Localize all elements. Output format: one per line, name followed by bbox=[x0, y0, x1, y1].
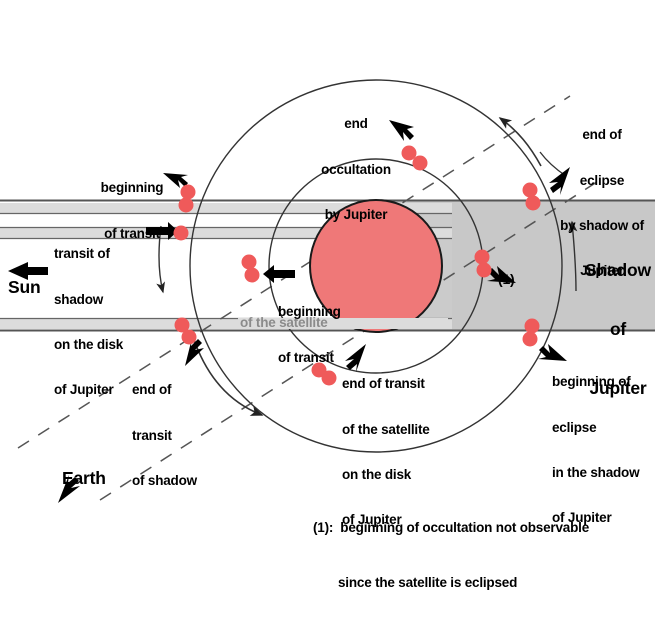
text-line: beginning bbox=[76, 180, 188, 195]
text-line: in the shadow bbox=[552, 465, 655, 480]
text-line: end of transit bbox=[342, 376, 464, 391]
text-line: beginning of bbox=[552, 374, 655, 389]
satellite-dot-end-of-eclipse-by-shadow-b bbox=[526, 196, 541, 211]
text-line: of shadow bbox=[132, 473, 238, 488]
text-line: end of bbox=[552, 127, 652, 142]
label-occluded-text: of the satellite bbox=[240, 315, 450, 330]
satellite-dot-beginning-of-transit-mid-b bbox=[245, 268, 260, 283]
label-note-marker: (1) bbox=[498, 272, 515, 288]
satellite-dot-beginning-of-eclipse-b bbox=[523, 332, 538, 347]
footnote-line-2: since the satellite is eclipsed bbox=[313, 574, 653, 592]
satellite-dot-note-1-occultation-b bbox=[477, 263, 492, 278]
label-earth: Earth bbox=[62, 469, 106, 489]
text-line: end of bbox=[132, 382, 238, 397]
text-line: by Jupiter bbox=[294, 207, 418, 222]
footnote: (1): beginning of occultation not observ… bbox=[313, 483, 653, 629]
text-line: Shadow bbox=[582, 261, 654, 281]
orbit-direction-arrow-right bbox=[500, 118, 541, 166]
text-line: of bbox=[582, 320, 654, 340]
satellite-dot-beginning-of-eclipse bbox=[525, 319, 540, 334]
text-line: of the satellite bbox=[342, 422, 464, 437]
satellite-dot-end-of-eclipse-by-shadow bbox=[523, 183, 538, 198]
text-line: end bbox=[294, 116, 418, 131]
satellite-dot-end-of-transit-of-shadow-b bbox=[182, 330, 197, 345]
text-line: on the disk bbox=[342, 467, 464, 482]
label-end-of-transit-of-shadow: end of transit of shadow bbox=[132, 352, 238, 518]
text-line: transit bbox=[132, 428, 238, 443]
diagram-canvas: Sun Earth beginning of transit transit o… bbox=[0, 0, 655, 529]
satellite-dot-note-1-occultation bbox=[475, 250, 490, 265]
satellite-dot-beginning-of-transit-mid bbox=[242, 255, 257, 270]
text-line: occultation bbox=[294, 162, 418, 177]
label-end-occultation-by-jupiter: end occultation by Jupiter bbox=[294, 86, 418, 252]
label-sun: Sun bbox=[8, 278, 40, 298]
text-line: eclipse bbox=[552, 173, 652, 188]
text-line: on the disk bbox=[54, 337, 172, 352]
text-line: eclipse bbox=[552, 420, 655, 435]
text-line: transit of bbox=[54, 246, 172, 261]
text-line: shadow bbox=[54, 292, 172, 307]
